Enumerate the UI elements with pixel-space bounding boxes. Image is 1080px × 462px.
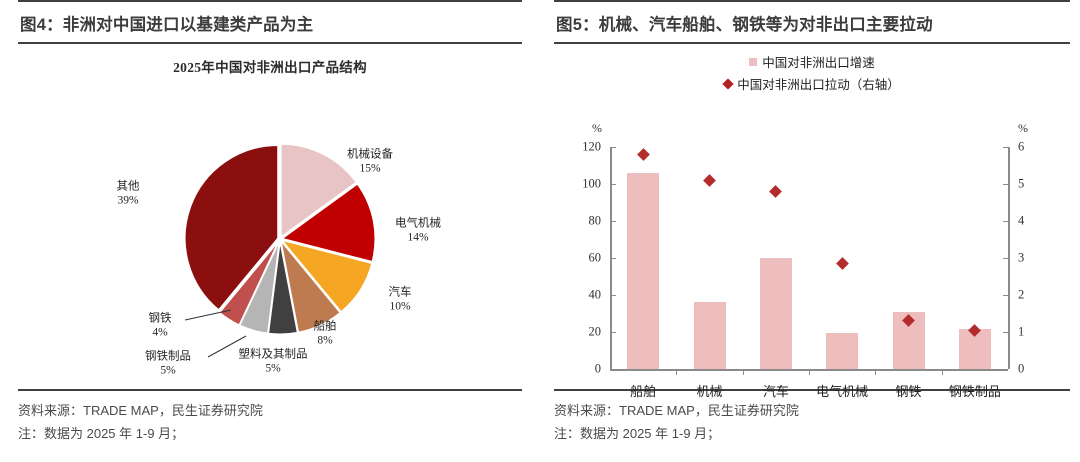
- data-point-diamond: [836, 257, 849, 270]
- pie-slice-value: 14%: [395, 231, 441, 245]
- right-axis-unit: %: [1018, 121, 1028, 136]
- bar: [694, 302, 726, 369]
- y-tick-label-left: 80: [589, 214, 602, 229]
- data-point-diamond: [703, 174, 716, 187]
- y-tick-label-right: 4: [1018, 214, 1024, 229]
- bar-chart-legend: 中国对非洲出口增速 中国对非洲出口拉动（右轴）: [554, 52, 1070, 93]
- y-tick-right: [1003, 295, 1008, 296]
- x-axis-category-label: 机械: [696, 381, 722, 400]
- legend-label-growth: 中国对非洲出口增速: [762, 52, 875, 71]
- y-tick-label-left: 100: [582, 177, 601, 192]
- pie-slice-value: 39%: [117, 194, 140, 208]
- pie-svg: [18, 44, 522, 389]
- figures-row: 图4：非洲对中国进口以基建类产品为主 2025年中国对非洲出口产品结构 机械设备…: [0, 0, 1080, 462]
- figure-4-note-line: 注：数据为 2025 年 1-9 月；: [18, 423, 522, 446]
- y-tick-right: [1003, 147, 1008, 148]
- y-tick-label-right: 0: [1018, 362, 1024, 377]
- y-tick-label-left: 0: [595, 362, 601, 377]
- y-tick-right: [1003, 184, 1008, 185]
- pie-slice-name: 汽车: [389, 287, 412, 299]
- y-tick-left: [611, 184, 616, 185]
- y-tick-left: [611, 258, 616, 259]
- legend-label-pull: 中国对非洲出口拉动（右轴）: [737, 74, 900, 93]
- figure-5-source-line: 资料来源：TRADE MAP，民生证券研究院: [554, 400, 1070, 423]
- figure-5-note-line: 注：数据为 2025 年 1-9 月；: [554, 423, 1070, 446]
- x-tick: [743, 370, 744, 375]
- data-point-diamond: [637, 148, 650, 161]
- y-tick-left: [611, 332, 616, 333]
- y-tick-right: [1003, 258, 1008, 259]
- pie-slice-label: 钢铁制品5%: [145, 350, 191, 379]
- pie-slice-label: 钢铁4%: [149, 312, 172, 341]
- pie-slice-name: 钢铁: [149, 313, 172, 325]
- x-tick: [676, 370, 677, 375]
- y-tick-right: [1003, 332, 1008, 333]
- y-tick-left: [611, 295, 616, 296]
- y-tick-left: [611, 147, 616, 148]
- pie-slice-label: 机械设备15%: [347, 148, 393, 177]
- x-axis-category-label: 钢铁: [895, 381, 921, 400]
- pie-slice-name: 塑料及其制品: [239, 349, 308, 361]
- pie-slice-name: 机械设备: [347, 149, 393, 161]
- pie-slice-value: 15%: [347, 162, 393, 176]
- y-tick-right: [1003, 369, 1008, 370]
- legend-item-pull: 中国对非洲出口拉动（右轴）: [724, 74, 900, 93]
- pie-slice-value: 4%: [149, 326, 172, 340]
- pie-slice-name: 船舶: [314, 321, 337, 333]
- y-tick-label-right: 6: [1018, 140, 1024, 155]
- y-axis-right: [1008, 147, 1010, 369]
- y-tick-label-right: 3: [1018, 251, 1024, 266]
- y-tick-label-right: 2: [1018, 288, 1024, 303]
- y-tick-label-right: 1: [1018, 325, 1024, 340]
- data-point-diamond: [769, 185, 782, 198]
- pie-slice-label: 汽车10%: [389, 286, 412, 315]
- x-axis-category-label: 钢铁制品: [949, 381, 1001, 400]
- pie-slice-value: 8%: [314, 334, 337, 348]
- y-tick-label-left: 120: [582, 140, 601, 155]
- y-tick-left: [611, 369, 616, 370]
- pie-slice-name: 电气机械: [395, 218, 441, 230]
- pie-slice-label: 船舶8%: [314, 320, 337, 349]
- y-tick-label-right: 5: [1018, 177, 1024, 192]
- bar-chart-area: 中国对非洲出口增速 中国对非洲出口拉动（右轴） % % 020406080100…: [554, 44, 1070, 389]
- x-tick: [875, 370, 876, 375]
- legend-square-icon: [749, 58, 757, 66]
- x-axis-category-label: 电气机械: [816, 381, 868, 400]
- left-axis-unit: %: [592, 121, 602, 136]
- pie-slice-name: 其他: [117, 181, 140, 193]
- x-tick: [809, 370, 810, 375]
- legend-diamond-icon: [723, 78, 734, 89]
- pie-slice-label: 电气机械14%: [395, 217, 441, 246]
- x-axis-category-label: 汽车: [763, 381, 789, 400]
- y-tick-label-left: 60: [589, 251, 602, 266]
- pie-slice-label: 其他39%: [117, 180, 140, 209]
- figure-4-source: 资料来源：TRADE MAP，民生证券研究院 注：数据为 2025 年 1-9 …: [18, 391, 522, 446]
- legend-item-growth: 中国对非洲出口增速: [749, 52, 875, 71]
- pie-chart-area: 2025年中国对非洲出口产品结构 机械设备15%电气机械14%汽车10%船舶8%…: [18, 44, 522, 389]
- bar: [627, 173, 659, 369]
- figure-4-title: 图4：非洲对中国进口以基建类产品为主: [18, 2, 522, 42]
- x-axis-category-label: 船舶: [630, 381, 656, 400]
- pie-slice-value: 5%: [145, 364, 191, 378]
- figure-4-source-line: 资料来源：TRADE MAP，民生证券研究院: [18, 400, 522, 423]
- bar: [826, 333, 858, 369]
- y-tick-label-left: 20: [589, 325, 602, 340]
- y-tick-right: [1003, 221, 1008, 222]
- pie-chart: 机械设备15%电气机械14%汽车10%船舶8%塑料及其制品5%钢铁制品5%钢铁4…: [18, 44, 522, 389]
- bar: [760, 258, 792, 369]
- figure-5-title: 图5：机械、汽车船舶、钢铁等为对非出口主要拉动: [554, 2, 1070, 42]
- pie-slice-value: 5%: [239, 362, 308, 376]
- y-tick-left: [611, 221, 616, 222]
- y-tick-label-left: 40: [589, 288, 602, 303]
- pie-slice-value: 10%: [389, 300, 412, 314]
- figure-5-panel: 图5：机械、汽车船舶、钢铁等为对非出口主要拉动 中国对非洲出口增速 中国对非洲出…: [540, 0, 1080, 462]
- x-tick: [942, 370, 943, 375]
- figure-4-panel: 图4：非洲对中国进口以基建类产品为主 2025年中国对非洲出口产品结构 机械设备…: [0, 0, 540, 462]
- pie-slice-name: 钢铁制品: [145, 351, 191, 363]
- pie-slice-label: 塑料及其制品5%: [239, 348, 308, 377]
